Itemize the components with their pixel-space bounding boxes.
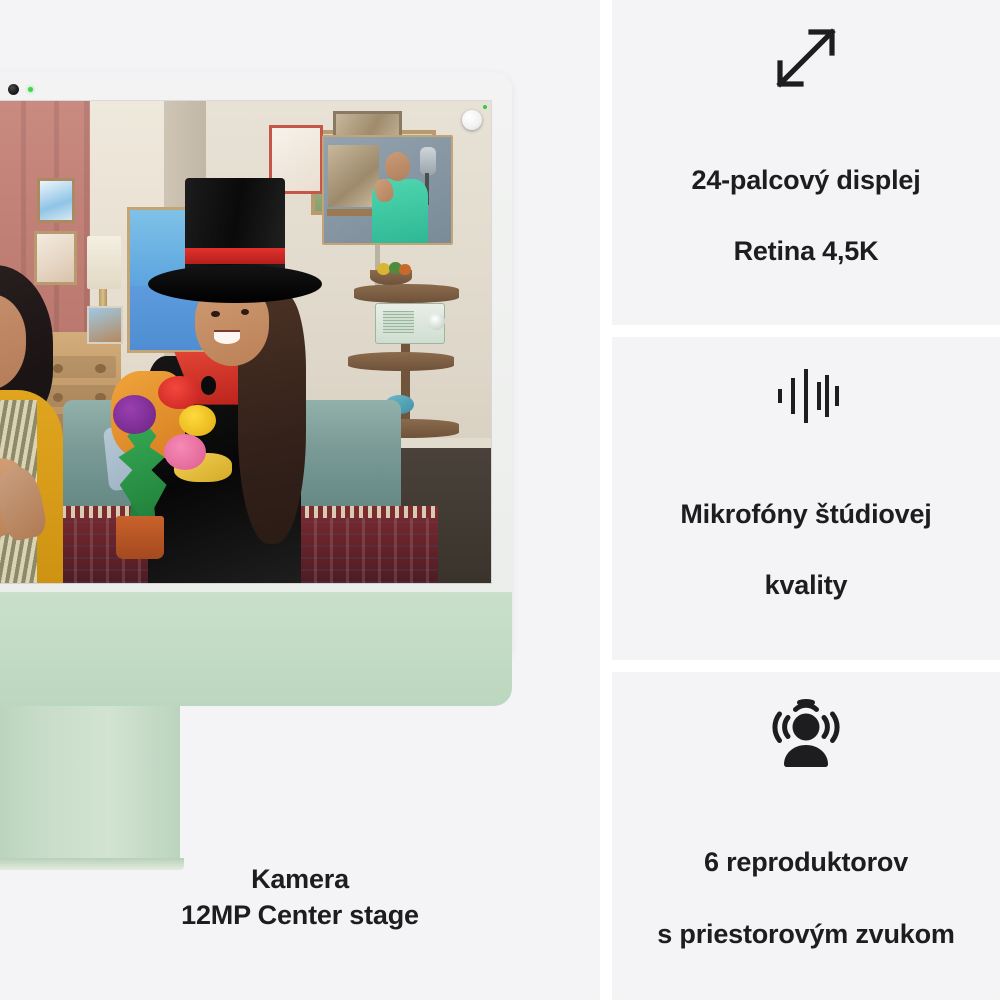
speakers-label-line2: s priestorovým zvukom	[657, 917, 954, 953]
spatial-audio-person-icon	[760, 683, 852, 775]
feature-cards-column: 24-palcový displej Retina 4,5K	[612, 0, 1000, 1000]
imac-chin-green	[0, 591, 512, 706]
wall-art-1	[37, 178, 75, 223]
microphones-label-line2: kvality	[680, 568, 931, 604]
imac-showcase-panel: Kamera 12MP Center stage	[0, 0, 600, 1000]
feature-card-display: 24-palcový displej Retina 4,5K	[612, 0, 1000, 325]
floor-lamp-shade	[87, 236, 121, 289]
top-hat-red-band	[185, 248, 285, 264]
feature-card-speakers: 6 reproduktorov s priestorovým zvukom	[612, 672, 1000, 1000]
flower-pot	[116, 516, 164, 559]
pip-wall-art	[328, 145, 379, 206]
feature-card-microphones: Mikrofóny štúdiovej kvality	[612, 337, 1000, 660]
child-smile	[214, 330, 240, 344]
facetime-video-scene	[0, 101, 491, 583]
feature-card-speakers-label: 6 reproduktorov s priestorovým zvukom	[657, 809, 954, 989]
imac-stand-neck	[0, 706, 180, 866]
radio-grille	[383, 311, 415, 333]
audio-waveform-icon	[767, 357, 845, 435]
wall-art-2	[34, 231, 77, 285]
imac-product-image	[0, 72, 512, 812]
screen-record-led-icon	[483, 105, 487, 109]
shelf-middle	[348, 352, 454, 371]
expand-diagonal-arrows-icon	[767, 19, 845, 97]
feature-card-display-label: 24-palcový displej Retina 4,5K	[692, 127, 921, 307]
camera-caption: Kamera 12MP Center stage	[0, 862, 600, 934]
shelf-top	[354, 284, 460, 303]
facetime-pip-video[interactable]	[322, 135, 453, 245]
radio-dial	[428, 313, 445, 330]
feature-card-microphones-label: Mikrofóny štúdiovej kvality	[680, 461, 931, 641]
pip-person-head	[385, 152, 410, 182]
top-hat-brim	[148, 265, 322, 304]
flower-pink	[164, 434, 206, 470]
display-label-line2: Retina 4,5K	[692, 234, 921, 270]
facetime-control-button[interactable]	[462, 110, 482, 130]
microphones-label-line1: Mikrofóny štúdiovej	[680, 497, 931, 533]
photo-frame	[87, 306, 123, 344]
camera-caption-line2: 12MP Center stage	[0, 898, 600, 934]
flower-purple	[113, 395, 155, 434]
fruit-orange	[399, 264, 411, 275]
camera-indicator-led-icon	[28, 87, 33, 92]
speakers-label-line1: 6 reproduktorov	[657, 845, 954, 881]
display-label-line1: 24-palcový displej	[692, 163, 921, 199]
product-feature-page: Kamera 12MP Center stage 24-palcový disp…	[0, 0, 1000, 1000]
camera-caption-line1: Kamera	[0, 862, 600, 898]
webcam-icon	[8, 84, 19, 95]
imac-display-screen	[0, 101, 491, 583]
pip-microphone	[420, 147, 435, 175]
